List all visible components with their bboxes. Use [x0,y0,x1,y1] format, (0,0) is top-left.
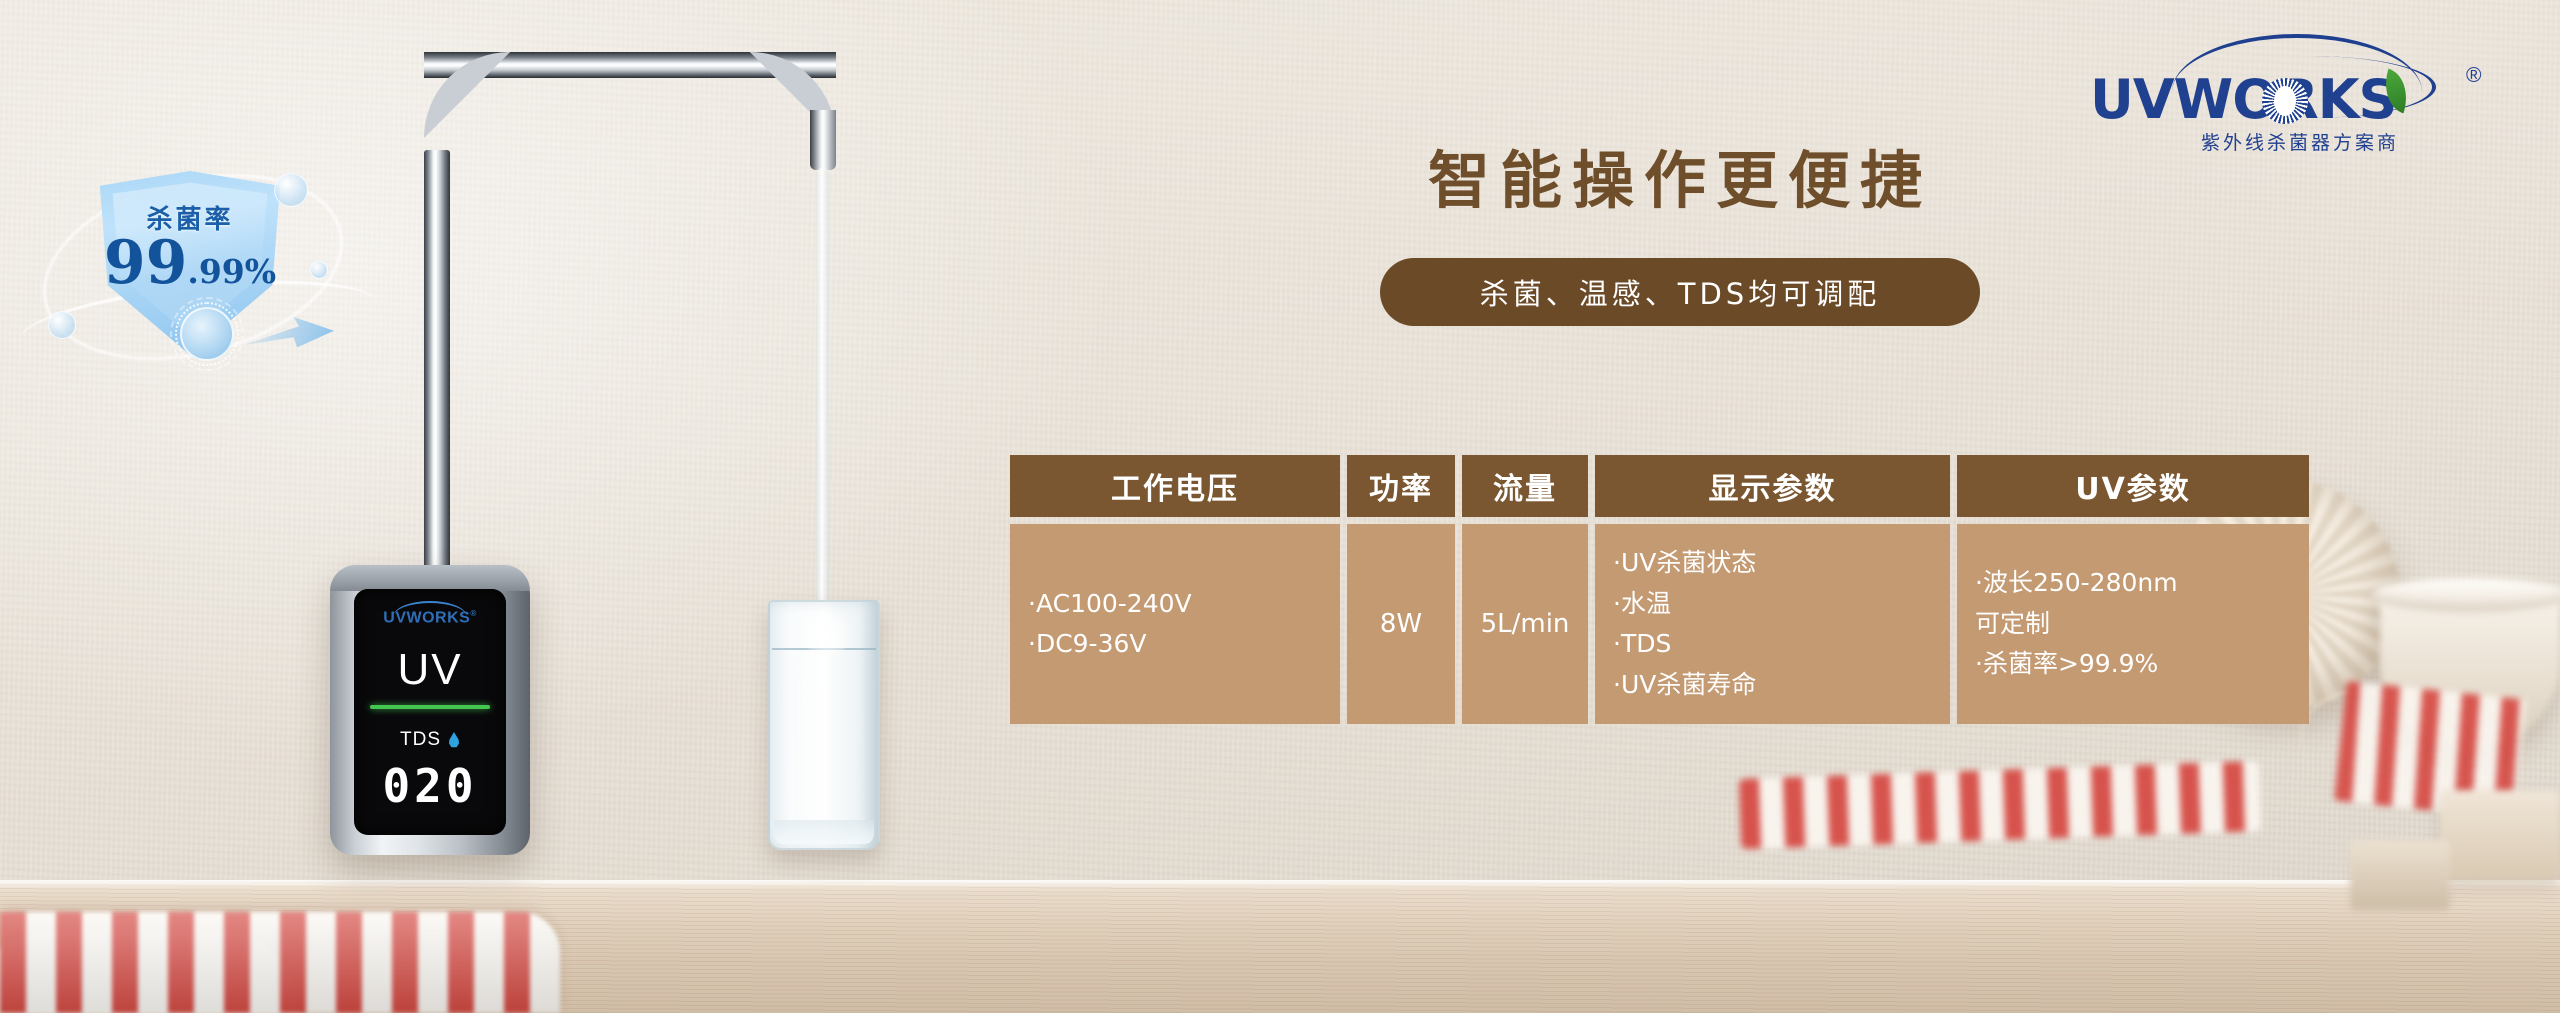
screen-status-bar [370,705,490,709]
spec-line: ·TDS [1613,624,1932,665]
water-stream [816,168,829,640]
screen-registered-mark: ® [470,609,476,618]
spec-header-label: UV参数 [2075,464,2191,508]
water-splash [798,610,856,654]
screen-tds-label: TDS [400,729,441,751]
spec-line: ·DC9-36V [1028,624,1322,665]
brand-logo: UVWORKS ® 紫外线杀菌器方案商 [2090,28,2510,138]
screen-brand-text: UVWORKS [383,609,470,626]
spec-header-label: 流量 [1493,464,1557,508]
spec-header-voltage: 工作电压 [1010,455,1340,517]
spec-cell-uv: ·波长250-280nm 可定制 ·杀菌率>99.9% [1957,524,2309,724]
spec-header-power: 功率 [1347,455,1455,517]
spec-header-label: 工作电压 [1111,464,1239,508]
block-prop-right-secondary [2350,840,2450,910]
glass-base [774,820,874,844]
spec-line: 5L/min [1481,603,1570,645]
spec-cell-display: ·UV杀菌状态 ·水温 ·TDS ·UV杀菌寿命 [1595,524,1950,724]
block-prop-right [2440,790,2560,880]
spec-header-display: 显示参数 [1595,455,1950,517]
faucet-vertical-stem [424,150,450,570]
cloth-shading [0,912,560,1013]
uv-sterilizer-device[interactable]: UVWORKS® UV TDS 020 [330,565,530,855]
device-top-cap [330,565,530,591]
bubble-icon-2 [48,311,76,339]
page-title: 智能操作更便捷 [1370,130,1990,220]
spec-cell-flow: 5L/min [1462,524,1588,724]
device-display-screen[interactable]: UVWORKS® UV TDS 020 [354,589,506,835]
spec-header-flow: 流量 [1462,455,1588,517]
faucet-spout [810,110,836,170]
spec-header-label: 显示参数 [1709,464,1837,508]
spec-table: 工作电压 功率 流量 显示参数 UV参数 ·AC100-240V ·DC9-36… [1010,455,2310,724]
badge-value-main: 99 [104,228,188,298]
badge-value: 99.99% [92,233,288,293]
bubble-icon-3 [310,261,328,279]
counter-edge-highlight [0,880,2560,888]
logo-subtitle: 紫外线杀菌器方案商 [2090,128,2510,155]
spec-line: ·AC100-240V [1028,584,1322,625]
bowl-rim [2370,578,2560,612]
uv-sunburst-icon [2262,78,2308,124]
spec-line: ·杀菌率>99.9% [1975,644,2291,685]
water-droplet-icon [448,732,460,748]
spec-line: ·UV杀菌状态 [1613,543,1932,584]
spec-line: ·水温 [1613,584,1932,625]
spec-cell-voltage: ·AC100-240V ·DC9-36V [1010,524,1340,724]
sterilization-rate-badge: 杀菌率 99.99% [28,165,358,365]
screen-tds-value: 020 [354,759,506,813]
screen-brand-logo: UVWORKS® [354,609,506,627]
spec-header-uv: UV参数 [1957,455,2309,517]
feature-pill: 杀菌、温感、TDS均可调配 [1380,258,1980,326]
screen-tds-row: TDS [354,729,506,751]
feature-pill-label: 杀菌、温感、TDS均可调配 [1480,271,1880,313]
screen-mode-label: UV [354,645,506,695]
spec-table-body-row: ·AC100-240V ·DC9-36V 8W 5L/min ·UV杀菌状态 ·… [1010,524,2310,724]
germ-icon [180,307,234,361]
badge-value-fraction: .99% [187,252,276,291]
spec-line: ·波长250-280nm [1975,563,2291,604]
registered-trademark-icon: ® [2466,64,2481,88]
spec-line: 可定制 [1975,604,2291,645]
spec-table-header-row: 工作电压 功率 流量 显示参数 UV参数 [1010,455,2310,517]
spec-line: 8W [1380,603,1422,645]
spec-line: ·UV杀菌寿命 [1613,665,1932,706]
bubble-icon-1 [274,173,308,207]
spec-header-label: 功率 [1369,464,1433,508]
spec-cell-power: 8W [1347,524,1455,724]
striped-cloth-left [0,912,560,1013]
